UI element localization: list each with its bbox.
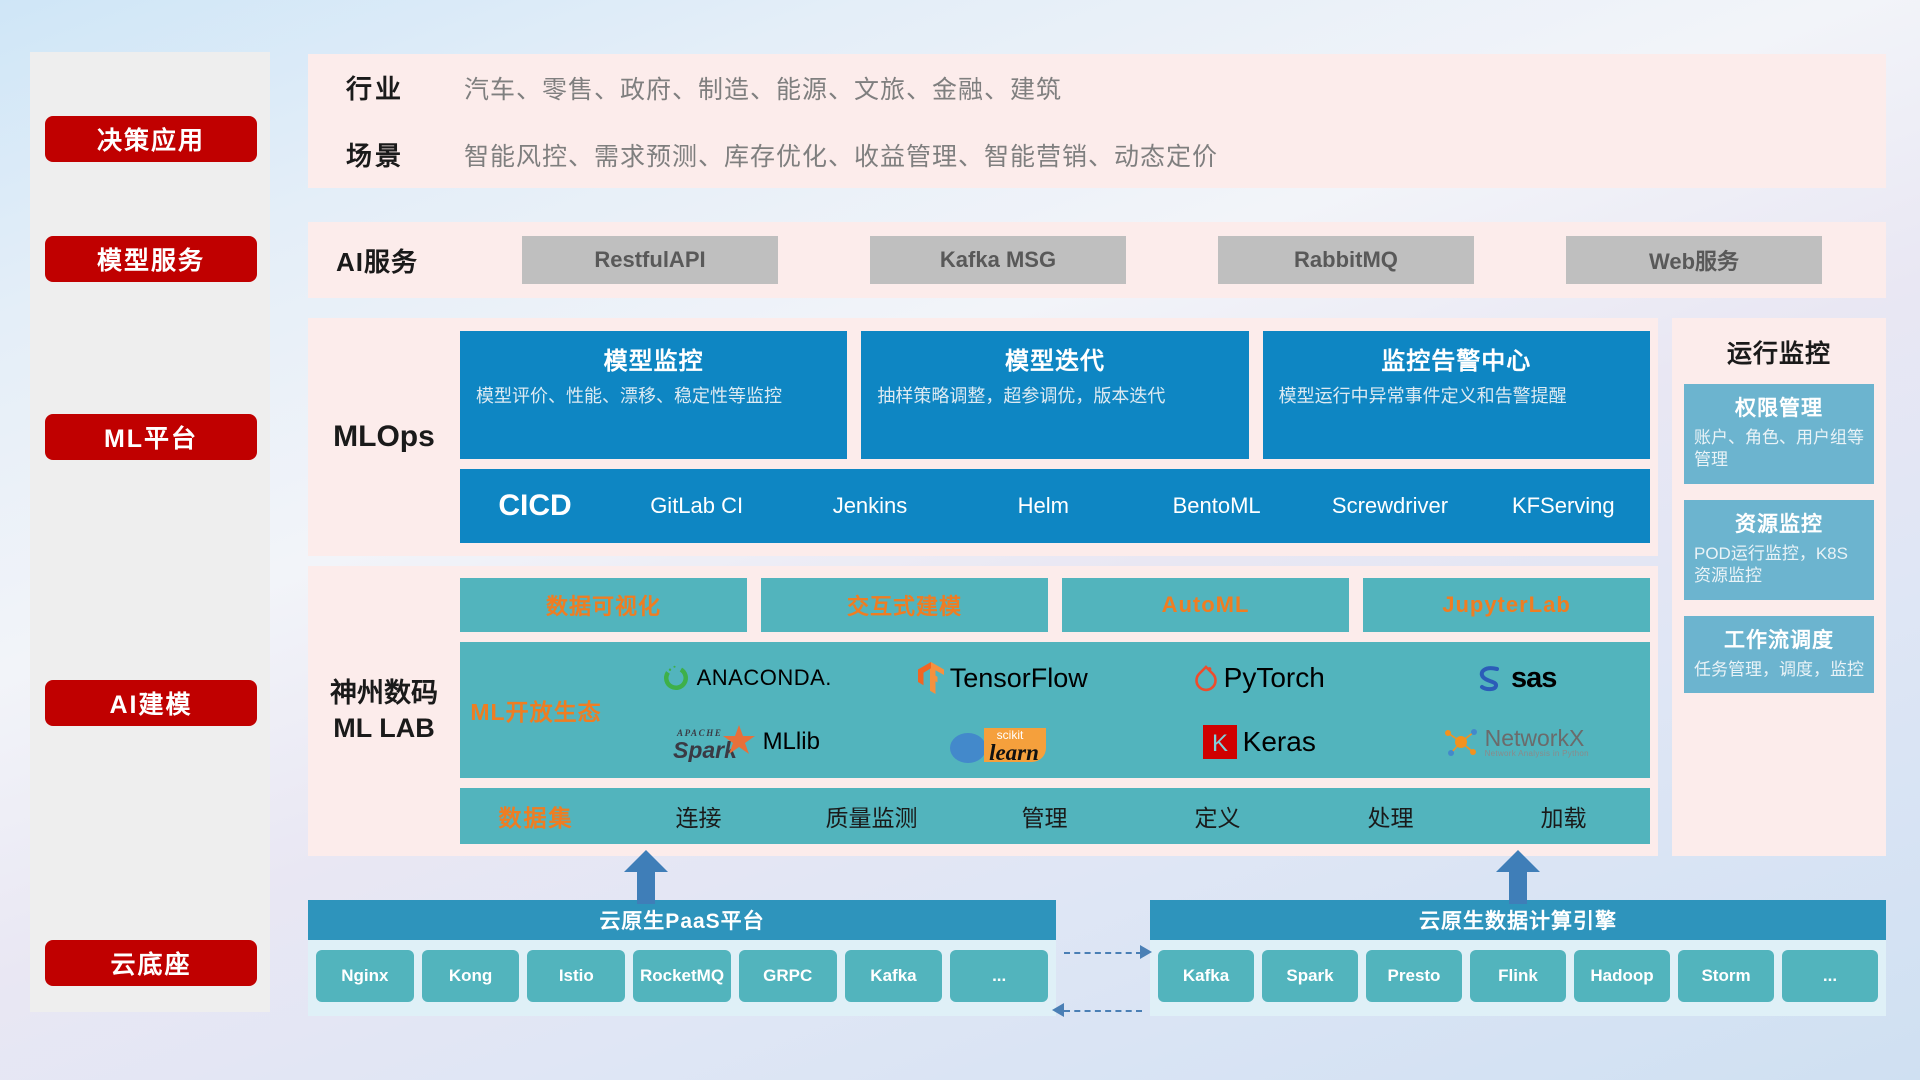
cloud-data-engine-title: 云原生数据计算引擎 [1150,900,1886,940]
monitoring-card-resource[interactable]: 资源监控 POD运行监控，K8S资源监控 [1684,500,1874,600]
cloud-chip-istio[interactable]: Istio [527,950,625,1002]
mlops-label: MLOps [308,420,460,454]
card-title: 监控告警中心 [1279,341,1634,376]
ml-ecosystem-title: ML开放生态 [460,693,612,727]
cloud-chip-kafka[interactable]: Kafka [1158,950,1254,1002]
lab-tool-automl[interactable]: AutoML [1062,578,1349,632]
sas-mark-icon [1475,664,1505,692]
stage-chip-label: ML平台 [104,419,198,455]
dataset-item-process[interactable]: 处理 [1304,799,1477,833]
card-title: 权限管理 [1694,392,1864,422]
up-arrow-paas-icon [624,850,668,904]
anaconda-logo: ANACONDA. [661,663,832,693]
tensorflow-logo-text: TensorFlow [950,665,1088,692]
lab-tool-interactive-modeling[interactable]: 交互式建模 [761,578,1048,632]
cicd-item-helm[interactable]: Helm [957,493,1130,518]
anaconda-logo-text: ANACONDA. [697,667,832,689]
up-arrow-data-engine-icon [1496,850,1540,904]
mlops-card-list: 模型监控 模型评价、性能、漂移、稳定性等监控 模型迭代 抽样策略调整，超参调优，… [460,331,1650,459]
industry-row: 行业 汽车、零售、政府、制造、能源、文旅、金融、建筑 [308,54,1886,121]
scikit-learn-mark-icon: scikit learn [948,718,1058,766]
anaconda-mark-icon [661,663,691,693]
ai-service-chip-list: RestfulAPI Kafka MSG RabbitMQ Web服务 [476,236,1886,284]
stage-chip-cloud-base[interactable]: 云底座 [45,940,257,986]
cloud-chip-more[interactable]: ... [950,950,1048,1002]
sas-logo: sas [1475,664,1556,693]
card-desc: 模型评价、性能、漂移、稳定性等监控 [476,384,831,408]
stage-chip-model-service[interactable]: 模型服务 [45,236,257,282]
runtime-monitoring-panel: 运行监控 权限管理 账户、角色、用户组等管理 资源监控 POD运行监控，K8S资… [1672,318,1886,856]
cloud-chip-rocketmq[interactable]: RocketMQ [633,950,731,1002]
cloud-chip-more[interactable]: ... [1782,950,1878,1002]
keras-logo-text: Keras [1243,728,1316,756]
svg-text:Spark: Spark [673,737,738,762]
dataset-bar: 数据集 连接 质量监测 管理 定义 处理 加载 [460,788,1650,844]
ai-service-chip[interactable]: RabbitMQ [1218,236,1474,284]
cicd-item-screwdriver[interactable]: Screwdriver [1303,493,1476,518]
cloud-chip-nginx[interactable]: Nginx [316,950,414,1002]
stage-chip-ai-modeling[interactable]: AI建模 [45,680,257,726]
scenario-label: 场景 [346,136,464,173]
cicd-title: CICD [460,489,610,523]
cloud-chip-hadoop[interactable]: Hadoop [1574,950,1670,1002]
ml-lab-content: 数据可视化 交互式建模 AutoML JupyterLab ML开放生态 ANA… [460,578,1658,844]
card-title: 资源监控 [1694,508,1864,538]
mlops-card-model-iteration[interactable]: 模型迭代 抽样策略调整，超参调优，版本迭代 [861,331,1248,459]
stage-chip-label: 模型服务 [97,241,205,277]
cicd-item-gitlab-ci[interactable]: GitLab CI [610,493,783,518]
svg-text:K: K [1212,730,1228,757]
ai-service-band: AI服务 RestfulAPI Kafka MSG RabbitMQ Web服务 [308,222,1886,298]
ai-service-chip[interactable]: Web服务 [1566,236,1822,284]
mlops-content: 模型监控 模型评价、性能、漂移、稳定性等监控 模型迭代 抽样策略调整，超参调优，… [460,331,1658,543]
ml-ecosystem-logo-grid: ANACONDA. TensorFlow [612,642,1650,778]
sas-logo-text: sas [1511,664,1556,693]
dataset-item-list: 连接 质量监测 管理 定义 处理 加载 [612,799,1650,833]
tensorflow-logo: TensorFlow [918,662,1088,694]
monitoring-card-permission[interactable]: 权限管理 账户、角色、用户组等管理 [1684,384,1874,484]
cicd-bar: CICD GitLab CI Jenkins Helm BentoML Scre… [460,469,1650,543]
card-title: 模型迭代 [877,341,1232,376]
networkx-logo: NetworkX Network Analysis in Python [1443,725,1589,759]
spark-mllib-logo: APACHE Spark MLlib [673,722,820,762]
dashed-arrow-head-left-icon [1052,1003,1064,1017]
tensorflow-mark-icon [918,662,944,694]
cloud-paas-chip-list: Nginx Kong Istio RocketMQ GRPC Kafka ... [308,940,1056,1016]
dataset-item-define[interactable]: 定义 [1131,799,1304,833]
cloud-data-engine-group: 云原生数据计算引擎 Kafka Spark Presto Flink Hadoo… [1150,900,1886,1016]
cloud-chip-kong[interactable]: Kong [422,950,520,1002]
ai-service-chip[interactable]: Kafka MSG [870,236,1126,284]
ml-lab-tool-list: 数据可视化 交互式建模 AutoML JupyterLab [460,578,1650,632]
svg-text:learn: learn [989,740,1039,765]
networkx-logo-tagline: Network Analysis in Python [1485,750,1589,758]
spark-mark-icon: APACHE Spark [673,722,757,762]
pytorch-logo-text: PyTorch [1224,664,1325,692]
card-desc: 任务管理，调度，监控 [1694,659,1864,681]
ml-lab-label-line2: ML LAB [308,711,460,746]
cloud-paas-group: 云原生PaaS平台 Nginx Kong Istio RocketMQ GRPC… [308,900,1056,1016]
cloud-chip-spark[interactable]: Spark [1262,950,1358,1002]
networkx-mark-icon [1443,725,1479,759]
lab-tool-data-visualization[interactable]: 数据可视化 [460,578,747,632]
ml-lab-label: 神州数码 ML LAB [308,676,460,745]
lab-tool-jupyterlab[interactable]: JupyterLab [1363,578,1650,632]
monitoring-card-workflow[interactable]: 工作流调度 任务管理，调度，监控 [1684,616,1874,693]
mlops-card-alert-center[interactable]: 监控告警中心 模型运行中异常事件定义和告警提醒 [1263,331,1650,459]
scikit-learn-logo: scikit learn [948,718,1058,766]
pytorch-logo: PyTorch [1194,663,1325,693]
keras-mark-icon: K [1203,725,1237,759]
ml-lab-label-line1: 神州数码 [308,676,460,711]
dataset-title: 数据集 [460,799,612,833]
ml-ecosystem-bar: ML开放生态 ANACONDA. [460,642,1650,778]
cloud-chip-grpc[interactable]: GRPC [739,950,837,1002]
industry-value: 汽车、零售、政府、制造、能源、文旅、金融、建筑 [464,70,1062,106]
mllib-logo-text: MLlib [763,730,820,754]
cicd-item-jenkins[interactable]: Jenkins [783,493,956,518]
cloud-paas-title: 云原生PaaS平台 [308,900,1056,940]
cloud-data-engine-chip-list: Kafka Spark Presto Flink Hadoop Storm ..… [1150,940,1886,1016]
ml-lab-band: 神州数码 ML LAB 数据可视化 交互式建模 AutoML JupyterLa… [308,566,1658,856]
card-desc: 账户、角色、用户组等管理 [1694,427,1864,472]
scenario-value: 智能风控、需求预测、库存优化、收益管理、智能营销、动态定价 [464,137,1218,173]
card-desc: 抽样策略调整，超参调优，版本迭代 [877,384,1232,408]
networkx-logo-text: NetworkX [1485,727,1589,750]
stage-column [30,52,270,1012]
pytorch-mark-icon [1194,663,1218,693]
stage-chip-ml-platform[interactable]: ML平台 [45,414,257,460]
cicd-item-bentoml[interactable]: BentoML [1130,493,1303,518]
dataset-item-connect[interactable]: 连接 [612,799,785,833]
cicd-item-kfserving[interactable]: KFServing [1477,493,1650,518]
stage-chip-label: AI建模 [109,685,192,721]
card-title: 模型监控 [476,341,831,376]
cicd-item-list: GitLab CI Jenkins Helm BentoML Screwdriv… [610,493,1650,518]
cloud-chip-storm[interactable]: Storm [1678,950,1774,1002]
dashed-arrow-head-right-icon [1140,945,1152,959]
mlops-card-model-monitoring[interactable]: 模型监控 模型评价、性能、漂移、稳定性等监控 [460,331,847,459]
keras-logo: K Keras [1203,725,1316,759]
cloud-chip-kafka[interactable]: Kafka [845,950,943,1002]
ai-service-chip[interactable]: RestfulAPI [522,236,778,284]
dataset-item-quality-monitor[interactable]: 质量监测 [785,799,958,833]
runtime-monitoring-title: 运行监控 [1684,334,1874,370]
stage-chip-label: 云底座 [110,945,191,981]
mlops-band: MLOps 模型监控 模型评价、性能、漂移、稳定性等监控 模型迭代 抽样策略调整… [308,318,1658,556]
industry-label: 行业 [346,69,464,106]
card-desc: 模型运行中异常事件定义和告警提醒 [1279,384,1634,408]
card-desc: POD运行监控，K8S资源监控 [1694,543,1864,588]
dashed-link-left-icon [1064,1010,1142,1012]
dashed-link-right-icon [1064,952,1142,954]
stage-chip-decision-app[interactable]: 决策应用 [45,116,257,162]
stage-chip-label: 决策应用 [97,121,205,157]
ai-service-label: AI服务 [336,242,476,279]
cloud-chip-flink[interactable]: Flink [1470,950,1566,1002]
cloud-chip-presto[interactable]: Presto [1366,950,1462,1002]
dataset-item-manage[interactable]: 管理 [958,799,1131,833]
decision-application-band: 行业 汽车、零售、政府、制造、能源、文旅、金融、建筑 场景 智能风控、需求预测、… [308,54,1886,188]
dataset-item-load[interactable]: 加载 [1477,799,1650,833]
scenario-row: 场景 智能风控、需求预测、库存优化、收益管理、智能营销、动态定价 [308,121,1886,188]
card-title: 工作流调度 [1694,624,1864,654]
